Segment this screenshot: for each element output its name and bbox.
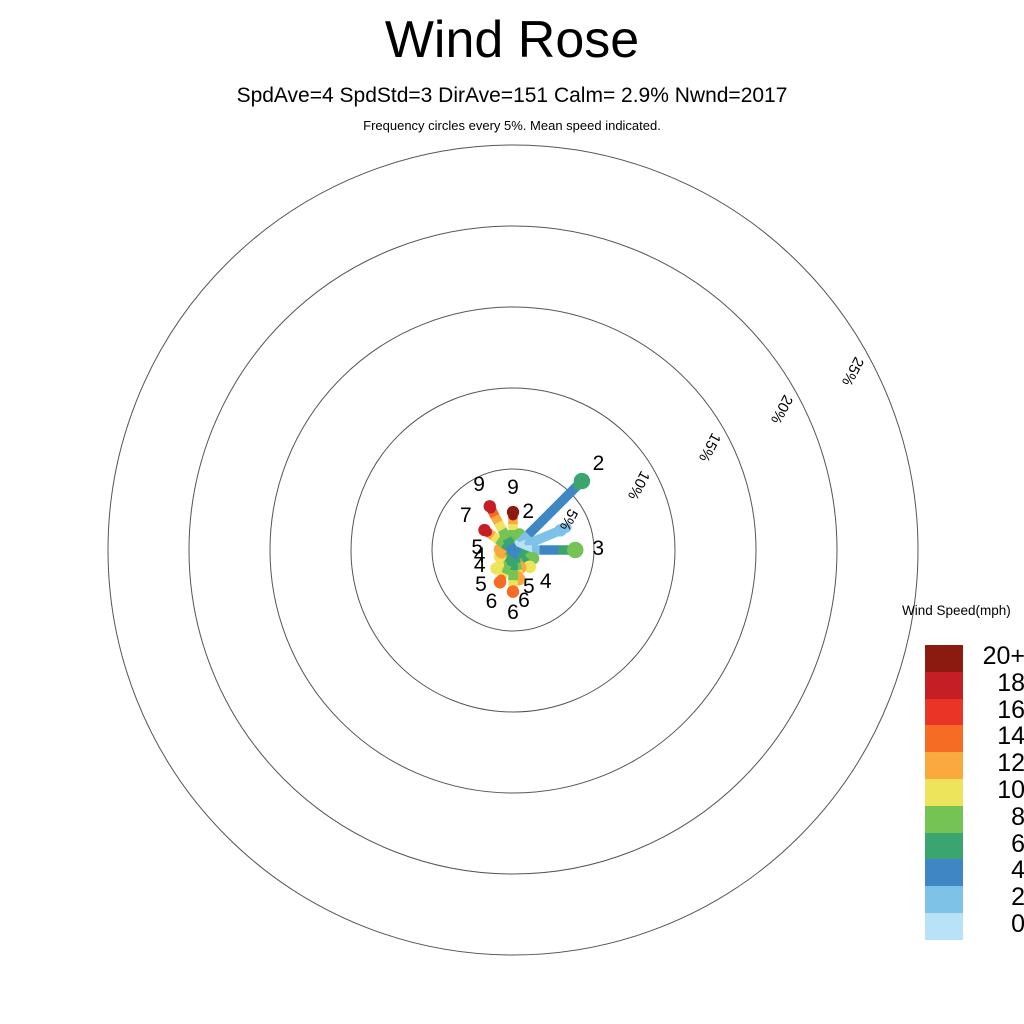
legend-swatches: 20+181614121086420 bbox=[925, 645, 963, 940]
legend-label: 14 bbox=[967, 723, 1024, 750]
petal-segment bbox=[502, 530, 507, 539]
legend-label: 12 bbox=[967, 750, 1024, 777]
legend-label: 0 bbox=[967, 911, 1024, 938]
petal-segment bbox=[510, 545, 513, 550]
legend-color-swatch bbox=[925, 779, 963, 806]
legend-label: 8 bbox=[967, 804, 1024, 831]
legend-label: 10 bbox=[967, 777, 1024, 804]
legend-color-swatch bbox=[925, 913, 963, 940]
petal-mean-speed-label: 9 bbox=[502, 476, 524, 500]
legend-color-swatch bbox=[925, 886, 963, 913]
legend-color-swatch bbox=[925, 645, 963, 672]
petal-tip bbox=[484, 500, 496, 512]
legend-entry: 14 bbox=[925, 725, 963, 752]
legend-entry: 8 bbox=[925, 806, 963, 833]
legend-label: 16 bbox=[967, 697, 1024, 724]
legend-color-swatch bbox=[925, 833, 963, 860]
wind-rose-figure: Wind Rose SpdAve=4 SpdStd=3 DirAve=151 C… bbox=[0, 0, 1024, 1024]
petal-mean-speed-label: 2 bbox=[517, 500, 539, 524]
legend-label: 18 bbox=[967, 670, 1024, 697]
legend-entry: 0 bbox=[925, 913, 963, 940]
petal-mean-speed-label: 3 bbox=[587, 537, 609, 561]
petal-tip bbox=[478, 524, 490, 536]
legend-color-swatch bbox=[925, 672, 963, 699]
petal-mean-speed-label: 9 bbox=[468, 473, 490, 497]
legend-entry: 2 bbox=[925, 886, 963, 913]
petal-segment bbox=[507, 538, 510, 544]
legend-color-swatch bbox=[925, 752, 963, 779]
legend-label: 4 bbox=[967, 857, 1024, 884]
legend-entry: 6 bbox=[925, 833, 963, 860]
petal-mean-speed-label: 5 bbox=[466, 536, 488, 560]
legend-label: 2 bbox=[967, 884, 1024, 911]
legend-title: Wind Speed(mph) bbox=[902, 603, 1011, 618]
legend-color-swatch bbox=[925, 859, 963, 886]
petal-tip bbox=[567, 542, 583, 558]
petal-mean-speed-label: 2 bbox=[587, 452, 609, 476]
wind-rose-plot bbox=[0, 0, 1024, 1024]
petal-segment bbox=[493, 536, 498, 539]
legend-entry: 12 bbox=[925, 752, 963, 779]
legend-entry: 18 bbox=[925, 672, 963, 699]
legend-entry: 16 bbox=[925, 699, 963, 726]
legend-entry: 4 bbox=[925, 859, 963, 886]
legend-color-swatch bbox=[925, 806, 963, 833]
petal-mean-speed-label: 6 bbox=[502, 601, 524, 625]
petal-tip bbox=[490, 562, 502, 574]
petal-segment bbox=[498, 523, 502, 530]
legend-color-swatch bbox=[925, 725, 963, 752]
legend-entry: 20+ bbox=[925, 645, 963, 672]
petal-tip bbox=[494, 576, 506, 588]
legend-color-swatch bbox=[925, 699, 963, 726]
legend-label: 6 bbox=[967, 831, 1024, 858]
legend-entry: 10 bbox=[925, 779, 963, 806]
petal-segment bbox=[495, 516, 498, 522]
petal-mean-speed-label: 7 bbox=[455, 504, 477, 528]
legend-label: 20+ bbox=[967, 643, 1024, 670]
